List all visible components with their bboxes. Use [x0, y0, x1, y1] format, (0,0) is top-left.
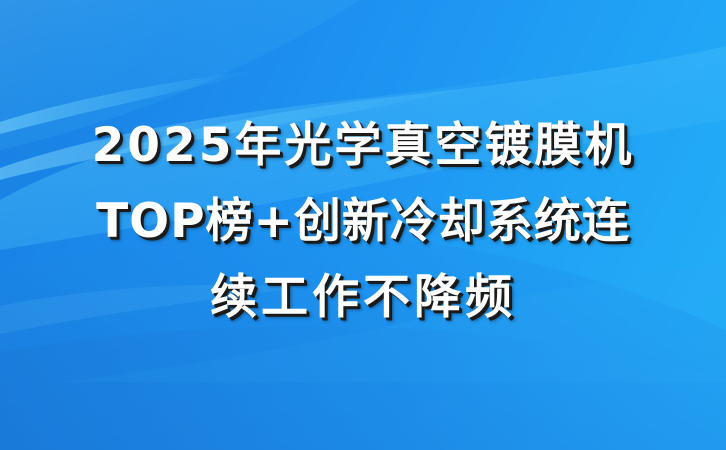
promo-banner: 2025年光学真空镀膜机 TOP榜+创新冷却系统连 续工作不降频 — [0, 0, 726, 450]
headline-block: 2025年光学真空镀膜机 TOP榜+创新冷却系统连 续工作不降频 — [0, 108, 726, 336]
headline-line-1: 2025年光学真空镀膜机 — [50, 108, 676, 184]
headline-line-3: 续工作不降频 — [50, 260, 676, 336]
wave-bottom-band — [0, 326, 726, 450]
headline-line-2: TOP榜+创新冷却系统连 — [50, 184, 676, 260]
